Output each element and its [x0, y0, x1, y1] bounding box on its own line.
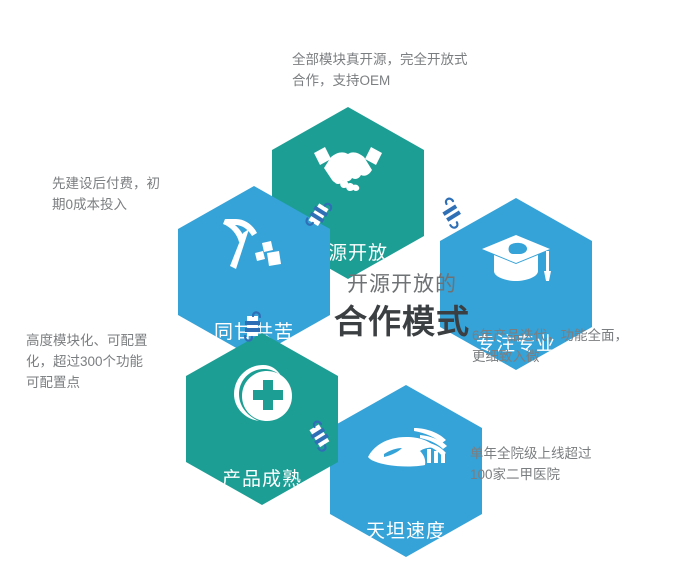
caption-mature-product: 高度模块化、可配置 化，超过300个功能 可配置点 — [26, 331, 186, 394]
hexagon-speed[interactable]: 天坦速度 — [330, 385, 482, 557]
connector-leftupper-leftlower-icon — [233, 303, 273, 354]
handshake-icon — [272, 135, 424, 199]
connector-leftlower-rightlower-icon — [296, 413, 342, 464]
hexagon-label: 产品成熟 — [222, 470, 302, 489]
infographic-canvas: 开源开放 专注专业 — [0, 0, 696, 566]
caption-shared-fate: 先建设后付费，初 期0成本投入 — [52, 174, 192, 216]
high-speed-train-icon — [330, 413, 482, 477]
hexagon-label: 天坦速度 — [366, 522, 446, 541]
caption-open-source: 全部模块真开源，完全开放式 合作，支持OEM — [292, 50, 512, 92]
caption-professional: 6年产品迭代，功能全面， 更细致入微 — [472, 326, 662, 368]
center-title-block: 开源开放的 合作模式 — [322, 272, 482, 342]
center-subtitle: 开源开放的 — [322, 272, 482, 297]
caption-speed: 单年全院级上线超过 100家二甲医院 — [470, 444, 660, 486]
connector-top-leftupper-icon — [296, 192, 342, 243]
connector-top-rightupper-icon — [428, 190, 474, 241]
center-title: 合作模式 — [322, 301, 482, 342]
